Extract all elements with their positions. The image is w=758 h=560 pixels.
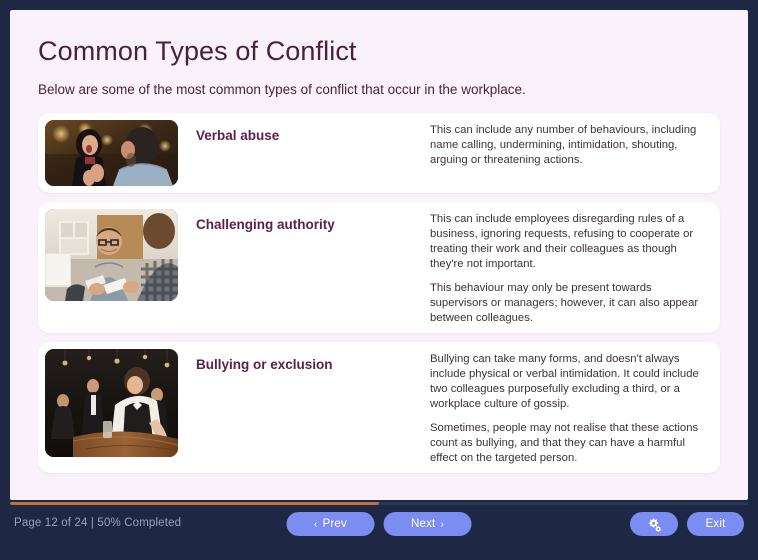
challenging-authority-thumbnail-image [45,209,178,301]
card-paragraph: This can include any number of behaviour… [430,123,710,168]
conflict-type-card[interactable]: Bullying or exclusion Bullying can take … [38,342,720,473]
prev-button-label: Prev [323,518,347,530]
card-paragraph: This behaviour may only be present towar… [430,281,710,326]
conflict-type-card-list: Verbal abuse This can include any number… [38,113,720,473]
next-button-label: Next [411,518,435,530]
card-paragraph: Bullying can take many forms, and doesn'… [430,352,710,412]
slide-content: Common Types of Conflict Below are some … [10,10,748,500]
page-indicator: Page 12 of 24 | 50% Completed [14,517,181,529]
card-body-column: This can include any number of behaviour… [430,120,710,168]
conflict-type-card[interactable]: Challenging authority This can include e… [38,202,720,333]
navigation-buttons: ‹ Prev Next › [287,512,472,536]
player-footer: Page 12 of 24 | 50% Completed ‹ Prev Nex… [0,500,758,560]
presentation-viewport: Common Types of Conflict Below are some … [0,0,758,560]
chevron-right-icon: › [440,519,444,530]
card-title: Challenging authority [196,216,420,234]
next-button[interactable]: Next › [384,512,472,536]
page-title: Common Types of Conflict [38,36,720,67]
settings-button[interactable] [630,512,678,536]
exit-button-label: Exit [706,518,726,530]
card-title-column: Verbal abuse [178,120,430,145]
card-title-column: Bullying or exclusion [178,349,430,374]
exit-button[interactable]: Exit [687,512,744,536]
chevron-left-icon: ‹ [314,519,318,530]
bullying-or-exclusion-thumbnail-image [45,349,178,457]
card-title-column: Challenging authority [178,209,430,234]
verbal-abuse-thumbnail-image [45,120,178,186]
card-title: Bullying or exclusion [196,356,420,374]
card-body-column: This can include employees disregarding … [430,209,710,326]
cogs-icon [647,517,662,532]
card-title: Verbal abuse [196,127,420,145]
utility-buttons: Exit [630,512,744,536]
card-paragraph: This can include employees disregarding … [430,212,710,272]
prev-button[interactable]: ‹ Prev [287,512,375,536]
card-body-column: Bullying can take many forms, and doesn'… [430,349,710,466]
card-paragraph: Sometimes, people may not realise that t… [430,421,710,466]
page-subtitle: Below are some of the most common types … [38,81,720,99]
conflict-type-card[interactable]: Verbal abuse This can include any number… [38,113,720,193]
